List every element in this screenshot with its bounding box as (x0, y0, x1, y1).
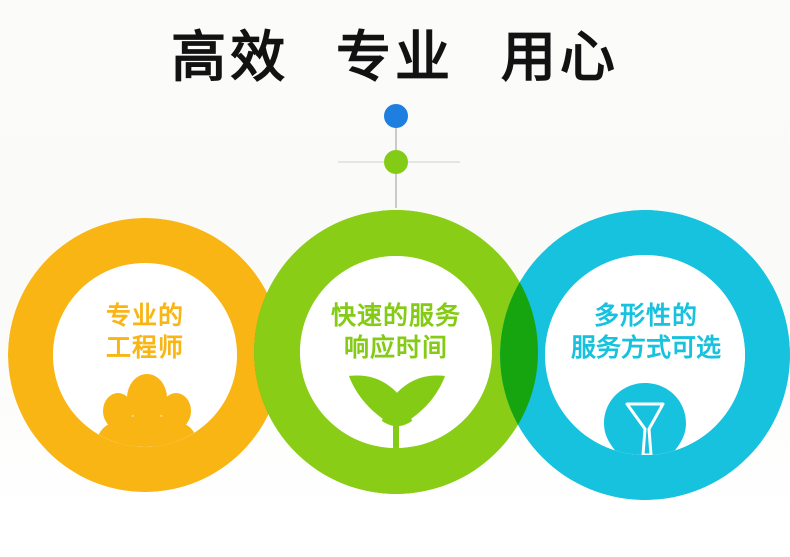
page-title: 高效 专业 用心 (0, 28, 790, 86)
label-response-time: 快速的服务 响应时间 (296, 300, 496, 364)
label-response-time-line-1: 快速的服务 (296, 300, 496, 332)
label-flexible-service-line-2: 服务方式可选 (535, 332, 757, 364)
label-response-time-line-2: 响应时间 (296, 332, 496, 364)
headline-word-1: 高效 (171, 28, 289, 86)
lightbulb-icon (548, 383, 742, 536)
headline-word-2: 专业 (336, 28, 454, 86)
label-flexible-service-line-1: 多形性的 (535, 300, 757, 332)
people-group-icon (50, 374, 290, 548)
label-engineers-line-1: 专业的 (45, 300, 245, 332)
headline-word-3: 用心 (501, 28, 619, 86)
sprout-icon (306, 376, 486, 529)
label-engineers: 专业的 工程师 (45, 300, 245, 364)
label-flexible-service: 多形性的 服务方式可选 (535, 300, 757, 364)
label-engineers-line-2: 工程师 (45, 332, 245, 364)
infographic-canvas: 高效 专业 用心 (0, 0, 790, 557)
